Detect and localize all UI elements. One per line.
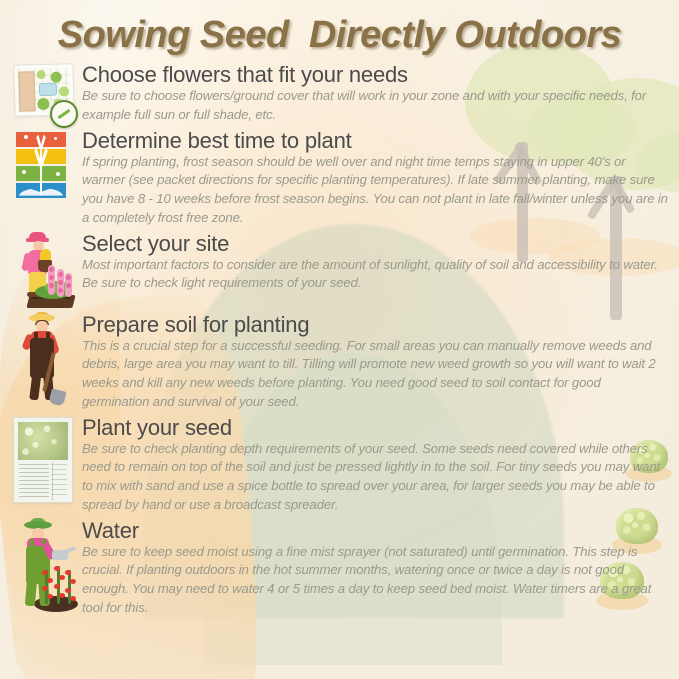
- gardener-planting-flowers-icon: [10, 231, 76, 309]
- four-seasons-icon: [10, 128, 76, 220]
- step-title: Select your site: [82, 232, 671, 255]
- step-body: Be sure to choose flowers/ground cover t…: [82, 87, 671, 124]
- steps-list: Choose flowers that fit your needs Be su…: [0, 62, 679, 621]
- step-item-water: Water Be sure to keep seed moist using a…: [0, 518, 679, 618]
- compass-icon: [50, 100, 78, 128]
- step-body: Be sure to keep seed moist using a fine …: [82, 543, 671, 618]
- step-item-prepare-soil: Prepare soil for planting This is a cruc…: [0, 312, 679, 412]
- page-title: Sowing Seed Directly Outdoors: [0, 14, 679, 57]
- step-body: If spring planting, frost season should …: [82, 153, 671, 228]
- step-body: Most important factors to consider are t…: [82, 256, 671, 293]
- gardener-watering-icon: [10, 518, 76, 614]
- step-title: Choose flowers that fit your needs: [82, 63, 671, 86]
- step-item-select-site: Select your site Most important factors …: [0, 231, 679, 309]
- seed-packet-icon: [10, 415, 76, 507]
- infographic-poster: Sowing Seed Directly Outdoors: [0, 0, 679, 679]
- step-title: Plant your seed: [82, 416, 671, 439]
- step-item-choose-flowers: Choose flowers that fit your needs Be su…: [0, 62, 679, 125]
- step-title: Water: [82, 519, 671, 542]
- step-body: This is a crucial step for a successful …: [82, 337, 671, 412]
- garden-plan-compass-icon: [10, 62, 76, 124]
- gardener-with-shovel-icon: [10, 312, 76, 408]
- step-title: Determine best time to plant: [82, 129, 671, 152]
- step-body: Be sure to check planting depth requirem…: [82, 440, 671, 515]
- step-item-determine-time: Determine best time to plant If spring p…: [0, 128, 679, 228]
- step-item-plant-seed: Plant your seed Be sure to check plantin…: [0, 415, 679, 515]
- step-title: Prepare soil for planting: [82, 313, 671, 336]
